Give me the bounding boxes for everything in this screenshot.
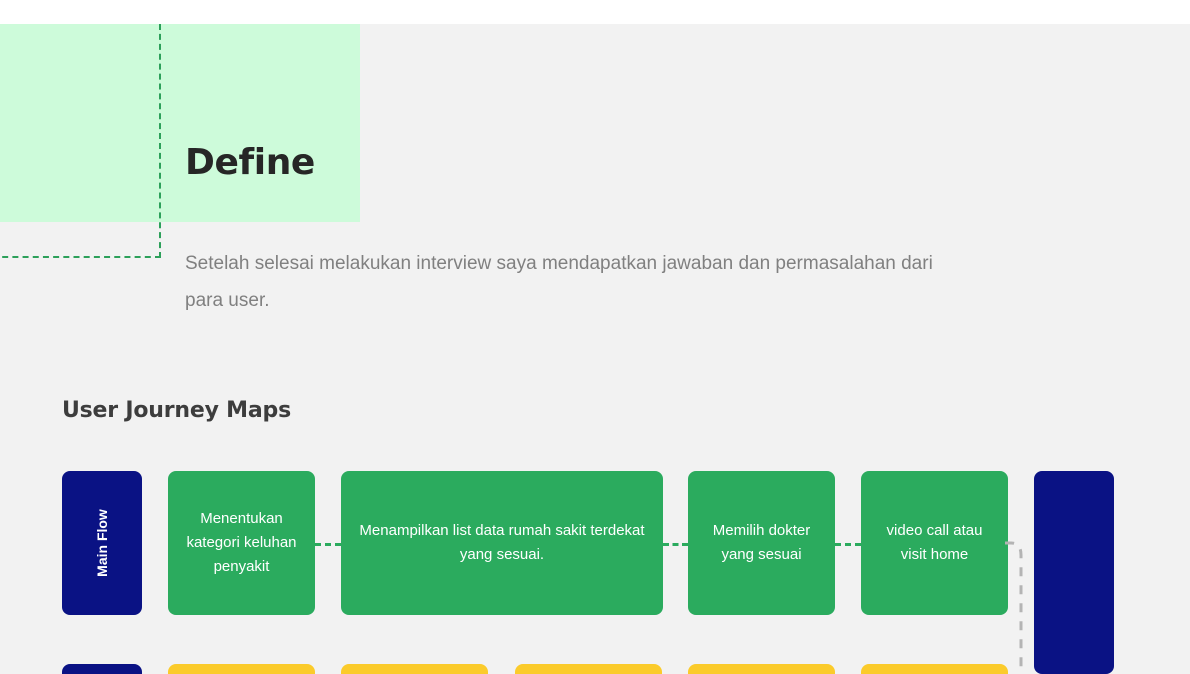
journey-card-main-1[interactable]: Menentukan kategori keluhan penyakit	[168, 471, 315, 615]
journey-card-secondary-5[interactable]	[861, 664, 1008, 674]
lane-label-secondary	[62, 664, 142, 674]
page-title: Define	[185, 145, 315, 181]
journey-card-main-2[interactable]: Menampilkan list data rumah sakit terdek…	[341, 471, 663, 615]
connector-main-3-4	[835, 543, 861, 546]
connector-main-2-3	[663, 543, 688, 546]
hero-divider-horizontal	[0, 256, 161, 258]
journey-card-main-4[interactable]: video call atau visit home	[861, 471, 1008, 615]
journey-end-block-top	[1034, 471, 1114, 674]
lane-label-main-flow-text: Main Flow	[94, 509, 110, 577]
journey-card-secondary-4[interactable]	[688, 664, 835, 674]
lane-label-main-flow: Main Flow	[62, 471, 142, 615]
hero-description: Setelah selesai melakukan interview saya…	[185, 245, 945, 319]
connector-main-1-2	[315, 543, 341, 546]
connector-elbow-down	[1005, 535, 1035, 674]
page-canvas: Define Setelah selesai melakukan intervi…	[0, 0, 1190, 674]
section-heading-user-journey-maps: User Journey Maps	[62, 400, 291, 422]
journey-card-main-3-text: Memilih dokter yang sesuai	[702, 519, 821, 567]
journey-card-main-3[interactable]: Memilih dokter yang sesuai	[688, 471, 835, 615]
journey-card-secondary-1[interactable]	[168, 664, 315, 674]
define-band	[0, 24, 360, 222]
journey-card-main-4-text: video call atau visit home	[875, 519, 994, 567]
journey-card-main-1-text: Menentukan kategori keluhan penyakit	[182, 507, 301, 579]
journey-card-secondary-3[interactable]	[515, 664, 662, 674]
hero-divider-vertical	[159, 24, 161, 258]
journey-card-main-2-text: Menampilkan list data rumah sakit terdek…	[355, 519, 649, 567]
journey-card-secondary-2[interactable]	[341, 664, 488, 674]
